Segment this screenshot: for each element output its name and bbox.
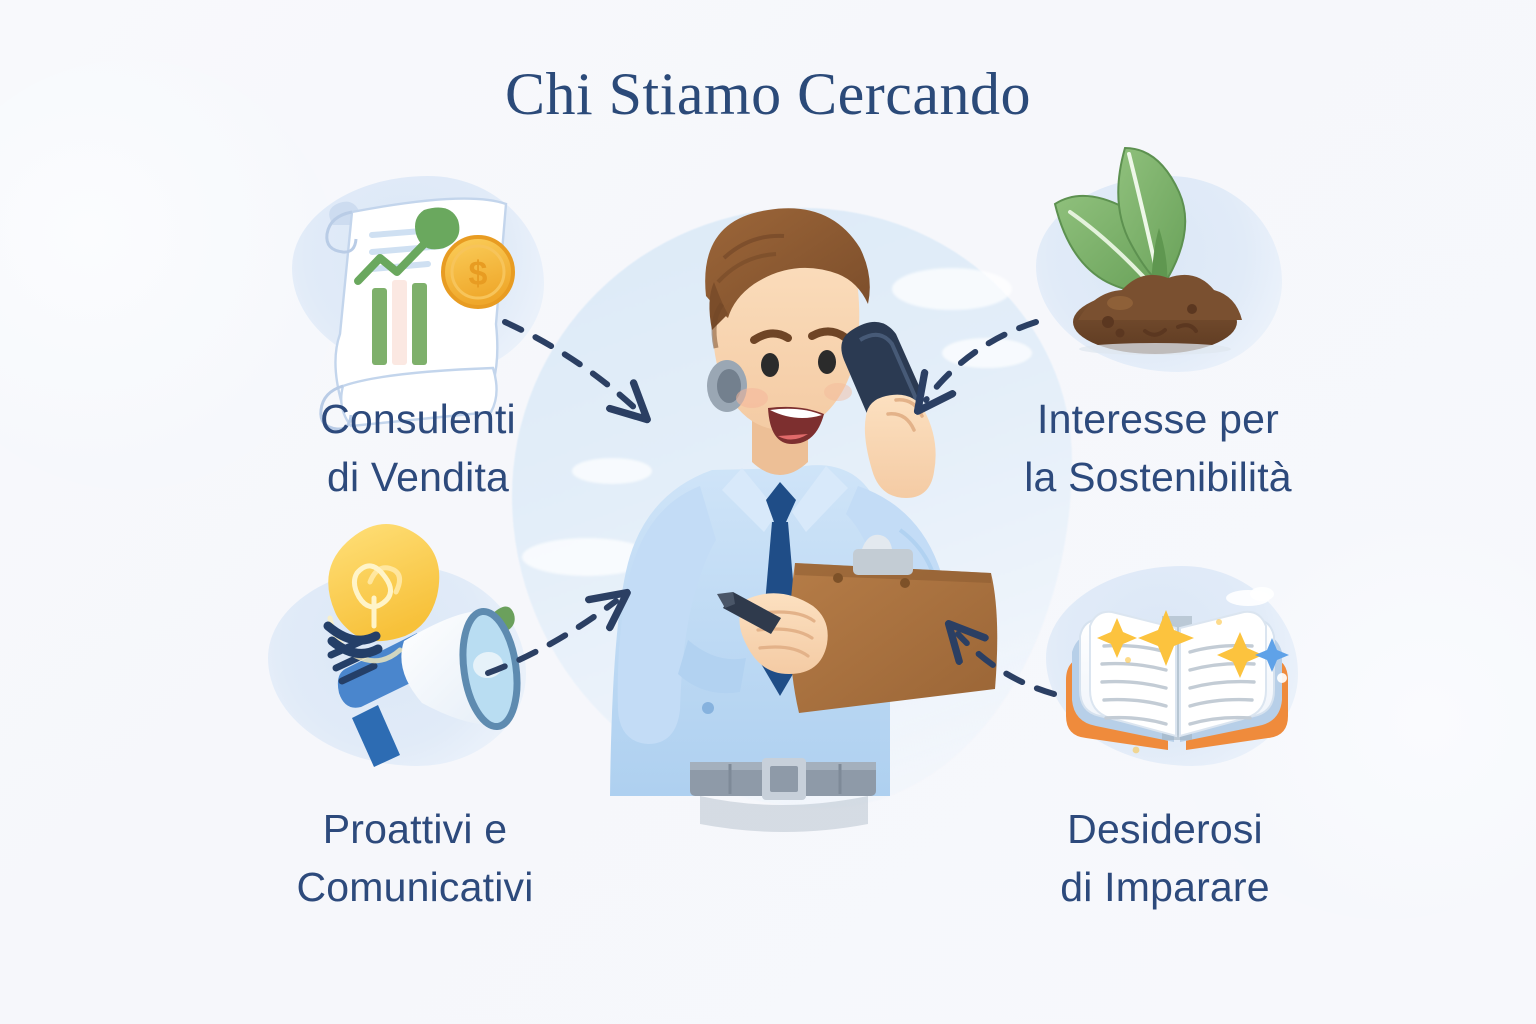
cloud-shape: [942, 338, 1032, 368]
label-line: Desiderosi: [1010, 800, 1320, 858]
label-desiderosi-imparare: Desiderosi di Imparare: [1010, 800, 1320, 916]
label-line: di Imparare: [1010, 858, 1320, 916]
icon-backdrop-communication: [268, 566, 526, 766]
icon-backdrop-sales: [292, 176, 544, 376]
infographic-canvas: Chi Stiamo Cercando: [0, 0, 1536, 1024]
cloud-shape: [522, 538, 652, 576]
page-title: Chi Stiamo Cercando: [0, 60, 1536, 129]
label-line: la Sostenibilità: [988, 448, 1328, 506]
cloud-shape: [572, 458, 652, 484]
label-consulenti-di-vendita: Consulenti di Vendita: [268, 390, 568, 506]
icon-backdrop-sustainability: [1036, 176, 1282, 372]
label-proattivi-comunicativi: Proattivi e Comunicativi: [250, 800, 580, 916]
label-line: Consulenti: [268, 390, 568, 448]
label-line: Proattivi e: [250, 800, 580, 858]
cloud-shape: [892, 268, 1012, 310]
icon-backdrop-learning: [1046, 566, 1298, 766]
label-line: Comunicativi: [250, 858, 580, 916]
label-line: di Vendita: [268, 448, 568, 506]
label-line: Interesse per: [988, 390, 1328, 448]
center-hero-backdrop: [512, 208, 1072, 808]
label-interesse-sostenibilita: Interesse per la Sostenibilità: [988, 390, 1328, 506]
